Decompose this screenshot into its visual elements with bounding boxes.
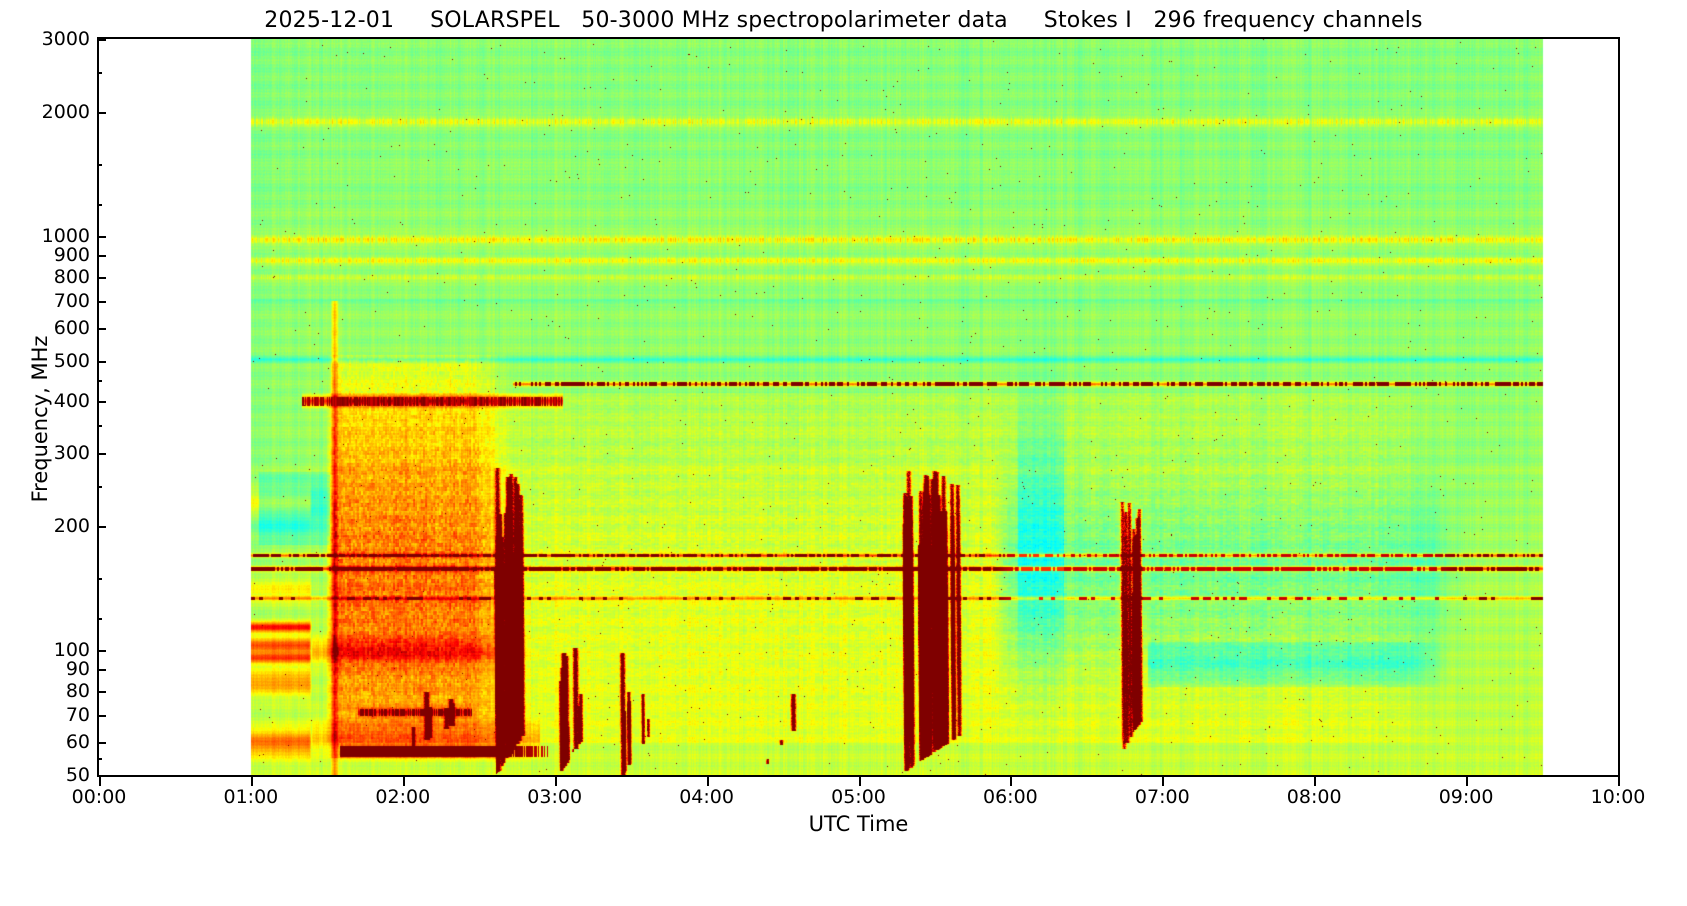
y-tick-label: 2000 — [0, 101, 90, 123]
y-tick-minor-mark — [97, 758, 102, 760]
y-tick-minor-mark — [97, 72, 102, 74]
x-tick-mark — [99, 777, 101, 786]
figure-title: 2025-12-01 SOLARSPEL 50-3000 MHz spectro… — [0, 8, 1687, 33]
x-tick-mark — [251, 777, 253, 786]
y-tick-minor-mark — [97, 618, 102, 620]
x-tick-label: 04:00 — [637, 786, 777, 808]
y-tick-minor-mark — [97, 164, 102, 166]
y-tick-minor-mark — [97, 486, 102, 488]
y-tick-label: 3000 — [0, 28, 90, 50]
y-tick-mark — [97, 112, 106, 114]
y-tick-minor-mark — [97, 425, 102, 427]
x-tick-mark — [1466, 777, 1468, 786]
y-axis-label: Frequency, MHz — [28, 319, 52, 519]
y-tick-mark — [97, 277, 106, 279]
x-tick-label: 00:00 — [29, 786, 169, 808]
x-tick-label: 01:00 — [181, 786, 321, 808]
y-tick-label: 70 — [0, 704, 90, 726]
x-tick-label: 09:00 — [1396, 786, 1536, 808]
y-tick-mark — [97, 715, 106, 717]
x-tick-mark — [555, 777, 557, 786]
spectrogram-figure: 2025-12-01 SOLARSPEL 50-3000 MHz spectro… — [0, 0, 1687, 906]
x-tick-mark — [403, 777, 405, 786]
y-tick-mark — [97, 669, 106, 671]
x-tick-mark — [1314, 777, 1316, 786]
y-tick-label: 90 — [0, 658, 90, 680]
y-tick-label: 60 — [0, 731, 90, 753]
x-tick-label: 06:00 — [940, 786, 1080, 808]
x-axis-label: UTC Time — [97, 812, 1620, 836]
x-tick-mark — [707, 777, 709, 786]
y-tick-mark — [97, 255, 106, 257]
y-tick-label: 80 — [0, 680, 90, 702]
x-tick-label: 05:00 — [789, 786, 929, 808]
y-tick-mark — [97, 401, 106, 403]
y-tick-label: 800 — [0, 266, 90, 288]
x-tick-label: 08:00 — [1244, 786, 1384, 808]
plot-area[interactable] — [97, 37, 1620, 777]
x-tick-mark — [1010, 777, 1012, 786]
x-tick-label: 07:00 — [1092, 786, 1232, 808]
x-tick-mark — [1162, 777, 1164, 786]
x-tick-mark — [859, 777, 861, 786]
x-tick-mark — [1618, 777, 1620, 786]
y-tick-mark — [97, 301, 106, 303]
y-tick-mark — [97, 39, 106, 41]
y-tick-minor-mark — [97, 204, 102, 206]
y-tick-mark — [97, 361, 106, 363]
y-tick-label: 50 — [0, 764, 90, 786]
y-tick-mark — [97, 453, 106, 455]
y-tick-mark — [97, 691, 106, 693]
y-tick-mark — [97, 328, 106, 330]
spectrogram-image[interactable] — [99, 39, 1618, 775]
y-tick-mark — [97, 236, 106, 238]
y-tick-label: 700 — [0, 290, 90, 312]
y-tick-minor-mark — [97, 578, 102, 580]
y-tick-mark — [97, 650, 106, 652]
y-tick-label: 900 — [0, 244, 90, 266]
x-tick-label: 10:00 — [1548, 786, 1687, 808]
x-tick-label: 03:00 — [485, 786, 625, 808]
y-tick-mark — [97, 742, 106, 744]
y-tick-minor-mark — [97, 380, 102, 382]
x-tick-label: 02:00 — [333, 786, 473, 808]
y-tick-mark — [97, 526, 106, 528]
